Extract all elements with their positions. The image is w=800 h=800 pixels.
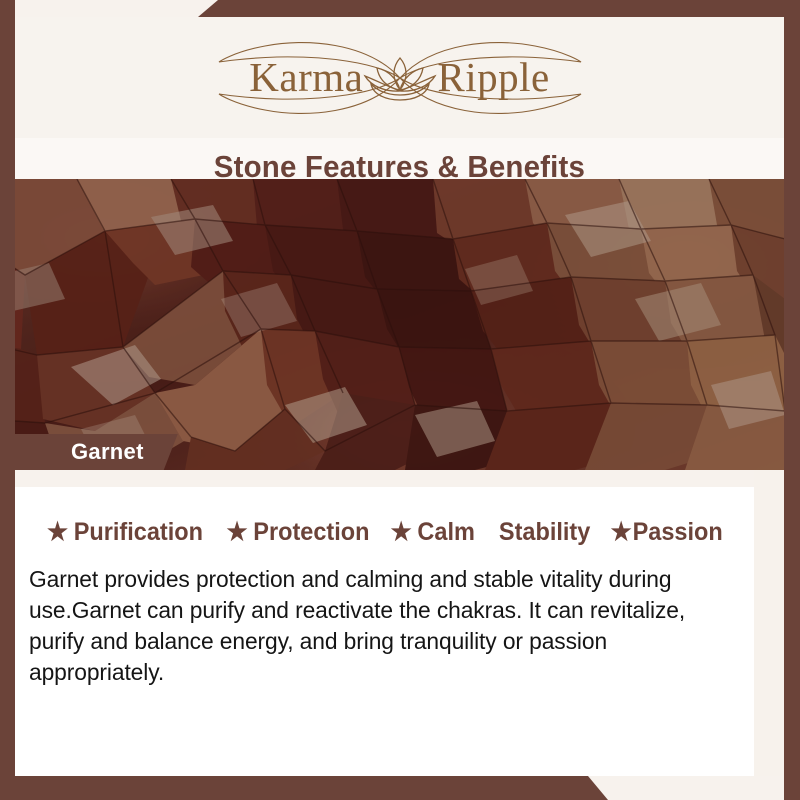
brand-name-second: Ripple (437, 53, 549, 101)
benefit-label: Calm (418, 518, 475, 547)
benefit-item-protection: ★ Protection (227, 518, 370, 547)
stone-description: Garnet provides protection and calming a… (29, 564, 720, 688)
star-icon: ★ (227, 520, 248, 545)
star-icon: ★ (47, 520, 68, 545)
brand-name: Karma Ripple (249, 53, 549, 103)
frame-left-bar (0, 0, 15, 800)
benefit-item-stability: Stability (499, 518, 590, 547)
benefit-label: Stability (499, 518, 590, 547)
brand-header: Karma Ripple (15, 17, 784, 138)
garnet-crystals-image (0, 179, 785, 470)
stone-name: Garnet (71, 439, 144, 465)
frame-right-bar (784, 0, 800, 800)
star-icon: ★ (391, 520, 412, 545)
benefit-label: Purification (74, 518, 203, 547)
benefit-item-purification: ★ Purification (47, 518, 203, 547)
stone-photo: Garnet (0, 179, 785, 470)
stone-info-card: Karma Ripple Stone Features & Benefits (0, 0, 800, 800)
brand-name-first: Karma (249, 53, 363, 101)
content-top-fade (15, 470, 754, 487)
content-panel: ★ Purification ★ Protection ★ Calm Stabi… (15, 470, 754, 776)
frame-bottom-bar (0, 776, 800, 800)
benefit-label: Protection (254, 518, 370, 547)
stone-name-banner: Garnet (5, 434, 178, 470)
brand-lockup: Karma Ripple (185, 32, 615, 124)
benefit-item-passion: ★ Passion (611, 518, 723, 547)
frame-top-bar (0, 0, 800, 17)
benefits-list: ★ Purification ★ Protection ★ Calm Stabi… (15, 518, 754, 547)
benefit-label: Passion (633, 518, 723, 547)
star-icon: ★ (611, 520, 632, 545)
benefit-item-calm: ★ Calm (391, 518, 475, 547)
